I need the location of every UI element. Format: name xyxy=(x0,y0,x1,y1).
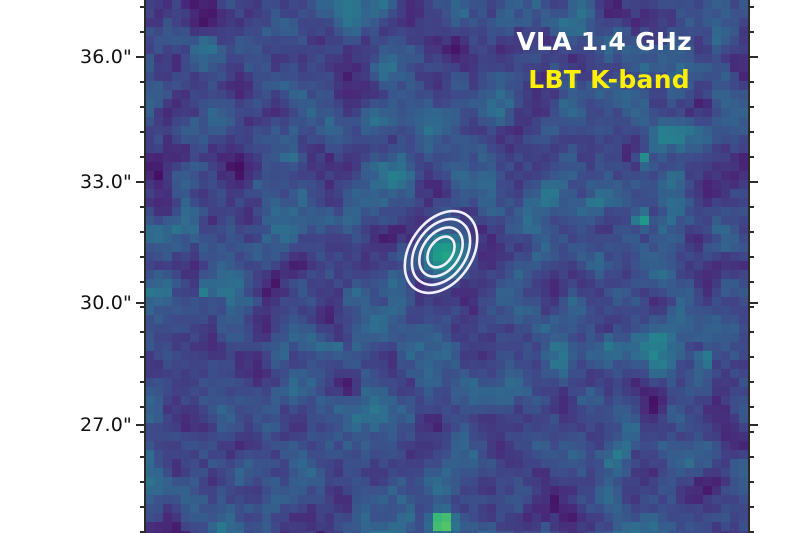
y-minor-tick xyxy=(140,431,145,432)
y-minor-tick xyxy=(749,6,754,7)
y-minor-tick xyxy=(749,331,754,332)
y-minor-tick xyxy=(140,106,145,107)
y-tick-label: 33.0" xyxy=(80,171,132,193)
y-major-tick xyxy=(749,424,758,425)
y-minor-tick xyxy=(749,31,754,32)
y-minor-tick xyxy=(749,531,754,532)
y-major-tick xyxy=(749,181,758,182)
contour-level-13sigma xyxy=(390,197,492,306)
y-minor-tick xyxy=(749,206,754,207)
y-minor-tick xyxy=(140,481,145,482)
y-minor-tick xyxy=(749,81,754,82)
y-minor-tick xyxy=(749,481,754,482)
y-axis-label: Dec (J2000) xyxy=(30,0,60,533)
y-tick-label: 30.0" xyxy=(80,292,132,314)
y-minor-tick xyxy=(140,406,145,407)
y-major-tick xyxy=(136,56,145,57)
y-minor-tick xyxy=(749,306,754,307)
y-minor-tick xyxy=(140,381,145,382)
y-minor-tick xyxy=(749,106,754,107)
y-tick-label: 36.0" xyxy=(80,46,132,68)
y-minor-tick xyxy=(140,131,145,132)
y-major-tick xyxy=(749,302,758,303)
vla-frequency-label: VLA 1.4 GHz xyxy=(516,27,692,56)
y-major-tick xyxy=(749,56,758,57)
y-minor-tick xyxy=(140,531,145,532)
axis-spine-left xyxy=(144,0,146,533)
y-minor-tick xyxy=(749,356,754,357)
y-minor-tick xyxy=(140,456,145,457)
y-minor-tick xyxy=(140,6,145,7)
y-minor-tick xyxy=(140,256,145,257)
axis-spine-right xyxy=(748,0,750,533)
y-minor-tick xyxy=(140,81,145,82)
y-minor-tick xyxy=(749,406,754,407)
y-minor-tick xyxy=(140,206,145,207)
y-minor-tick xyxy=(140,506,145,507)
y-minor-tick xyxy=(140,306,145,307)
y-major-tick xyxy=(136,424,145,425)
contour-level-8sigma xyxy=(400,208,482,296)
y-minor-tick xyxy=(140,281,145,282)
y-minor-tick xyxy=(749,281,754,282)
y-minor-tick xyxy=(749,131,754,132)
y-minor-tick xyxy=(749,156,754,157)
y-minor-tick xyxy=(749,256,754,257)
y-major-tick xyxy=(136,181,145,182)
lbt-band-label: LBT K-band xyxy=(528,65,690,94)
y-major-tick xyxy=(136,302,145,303)
y-minor-tick xyxy=(749,456,754,457)
y-minor-tick xyxy=(749,231,754,232)
y-minor-tick xyxy=(749,506,754,507)
y-minor-tick xyxy=(749,381,754,382)
y-minor-tick xyxy=(140,156,145,157)
y-tick-label: 27.0" xyxy=(80,414,132,436)
y-minor-tick xyxy=(749,431,754,432)
figure-root: VLA 1.4 GHz LBT K-band 36.0"33.0"30.0"27… xyxy=(0,0,800,533)
y-minor-tick xyxy=(140,331,145,332)
y-minor-tick xyxy=(140,356,145,357)
y-minor-tick xyxy=(140,231,145,232)
y-minor-tick xyxy=(140,31,145,32)
